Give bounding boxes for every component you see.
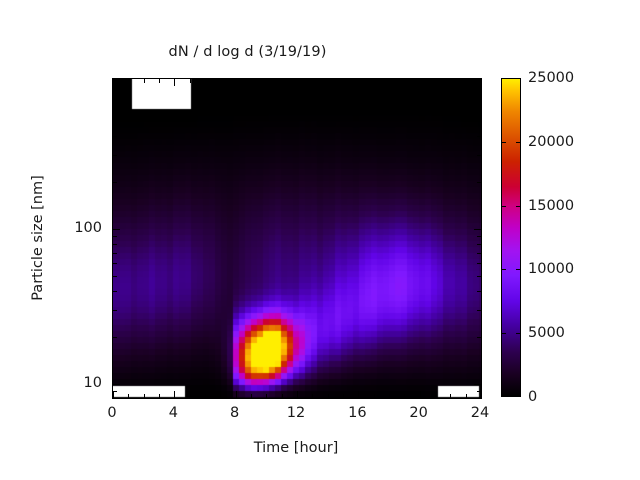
y-tick: [113, 89, 117, 90]
y-tick-right: [477, 136, 481, 137]
y-tick-right: [474, 384, 481, 385]
y-tick-right: [477, 391, 481, 392]
y-tick: [113, 263, 117, 264]
x-tick-top: [190, 79, 191, 83]
y-tick-right: [477, 155, 481, 156]
x-tick-label: 16: [348, 405, 366, 421]
x-tick: [159, 394, 160, 398]
x-tick: [113, 391, 114, 398]
y-tick: [113, 310, 117, 311]
colorbar-tick-label: 10000: [528, 261, 574, 277]
colorbar-gradient: [501, 78, 521, 397]
x-tick-top: [205, 79, 206, 83]
x-tick-top: [159, 79, 160, 83]
x-tick-label: 4: [169, 405, 178, 421]
colorbar-tick: [501, 269, 506, 270]
x-tick: [450, 394, 451, 398]
x-tick: [174, 391, 175, 398]
x-tick-top: [328, 79, 329, 83]
x-tick: [236, 391, 237, 398]
colorbar-tick-label: 15000: [528, 198, 574, 214]
y-tick-right: [477, 263, 481, 264]
x-tick-label: 8: [230, 405, 239, 421]
colorbar-tick: [501, 206, 506, 207]
y-tick: [113, 337, 117, 338]
y-tick: [113, 81, 117, 82]
y-tick-right: [477, 236, 481, 237]
x-tick-top: [343, 79, 344, 83]
y-axis-title: Particle size [nm]: [30, 138, 46, 338]
x-tick-top: [404, 79, 405, 83]
y-tick-right: [474, 229, 481, 230]
x-tick: [328, 394, 329, 398]
colorbar-tick-label: 20000: [528, 134, 574, 150]
x-tick: [297, 391, 298, 398]
y-tick-right: [477, 81, 481, 82]
colorbar-tick-label: 25000: [528, 70, 574, 86]
y-tick-right: [477, 89, 481, 90]
y-tick-right: [477, 98, 481, 99]
y-tick: [113, 276, 117, 277]
colorbar-tick-label: 5000: [528, 325, 565, 341]
x-tick: [420, 391, 421, 398]
x-tick: [312, 394, 313, 398]
y-tick-right: [477, 337, 481, 338]
y-tick: [113, 384, 120, 385]
colorbar-tick-label: 0: [528, 389, 537, 405]
y-tick: [113, 229, 120, 230]
x-tick-top: [220, 79, 221, 83]
x-tick-label: 24: [471, 405, 489, 421]
y-tick-right: [477, 121, 481, 122]
x-tick-top: [389, 79, 390, 83]
x-tick-top: [128, 79, 129, 83]
x-tick-label: 0: [107, 405, 116, 421]
x-tick: [374, 394, 375, 398]
x-tick: [404, 394, 405, 398]
x-tick: [466, 394, 467, 398]
colorbar-tick: [516, 142, 521, 143]
x-tick: [358, 391, 359, 398]
x-tick: [266, 394, 267, 398]
y-tick: [113, 236, 117, 237]
x-tick: [389, 394, 390, 398]
colorbar-tick: [516, 269, 521, 270]
x-tick-top: [435, 79, 436, 83]
x-tick-top: [266, 79, 267, 83]
x-tick-top: [144, 79, 145, 83]
x-tick: [220, 394, 221, 398]
heatmap-plot-area[interactable]: [112, 78, 482, 399]
y-tick: [113, 155, 117, 156]
y-tick-right: [477, 310, 481, 311]
colorbar-tick: [501, 333, 506, 334]
x-tick-top: [374, 79, 375, 83]
colorbar-tick: [516, 206, 521, 207]
x-tick: [343, 394, 344, 398]
colorbar-tick: [516, 333, 521, 334]
x-tick-top: [297, 79, 298, 86]
x-tick-top: [481, 79, 482, 86]
y-tick: [113, 136, 117, 137]
y-tick-right: [477, 244, 481, 245]
y-tick-label: 100: [50, 220, 102, 236]
colorbar-tick: [501, 142, 506, 143]
heatmap-image: [113, 79, 481, 398]
x-tick-label: 12: [287, 405, 305, 421]
y-tick-right: [477, 108, 481, 109]
x-tick-top: [282, 79, 283, 83]
x-tick-label: 20: [409, 405, 427, 421]
y-tick-right: [477, 291, 481, 292]
x-tick: [205, 394, 206, 398]
y-tick-right: [477, 276, 481, 277]
x-tick-top: [450, 79, 451, 83]
x-tick: [251, 394, 252, 398]
plot-title: dN / d log d (3/19/19): [0, 44, 495, 60]
y-tick-label: 10: [50, 375, 102, 391]
y-tick: [113, 291, 117, 292]
x-tick-top: [358, 79, 359, 86]
x-tick: [435, 394, 436, 398]
colorbar[interactable]: [501, 78, 521, 397]
x-tick-top: [466, 79, 467, 83]
y-tick-right: [477, 182, 481, 183]
y-tick: [113, 253, 117, 254]
x-tick: [128, 394, 129, 398]
x-axis-title: Time [hour]: [112, 440, 480, 456]
y-tick: [113, 121, 117, 122]
x-tick-top: [251, 79, 252, 83]
y-tick-right: [477, 253, 481, 254]
figure-canvas: dN / d log d (3/19/19) 04812162024 10100…: [0, 0, 640, 480]
y-tick: [113, 98, 117, 99]
x-tick: [190, 394, 191, 398]
x-tick-top: [236, 79, 237, 86]
x-tick-top: [312, 79, 313, 83]
y-tick: [113, 244, 117, 245]
y-tick: [113, 391, 117, 392]
x-tick: [282, 394, 283, 398]
x-tick: [144, 394, 145, 398]
x-tick: [481, 391, 482, 398]
x-tick-top: [174, 79, 175, 86]
y-tick: [113, 108, 117, 109]
y-tick: [113, 182, 117, 183]
x-tick-top: [420, 79, 421, 86]
